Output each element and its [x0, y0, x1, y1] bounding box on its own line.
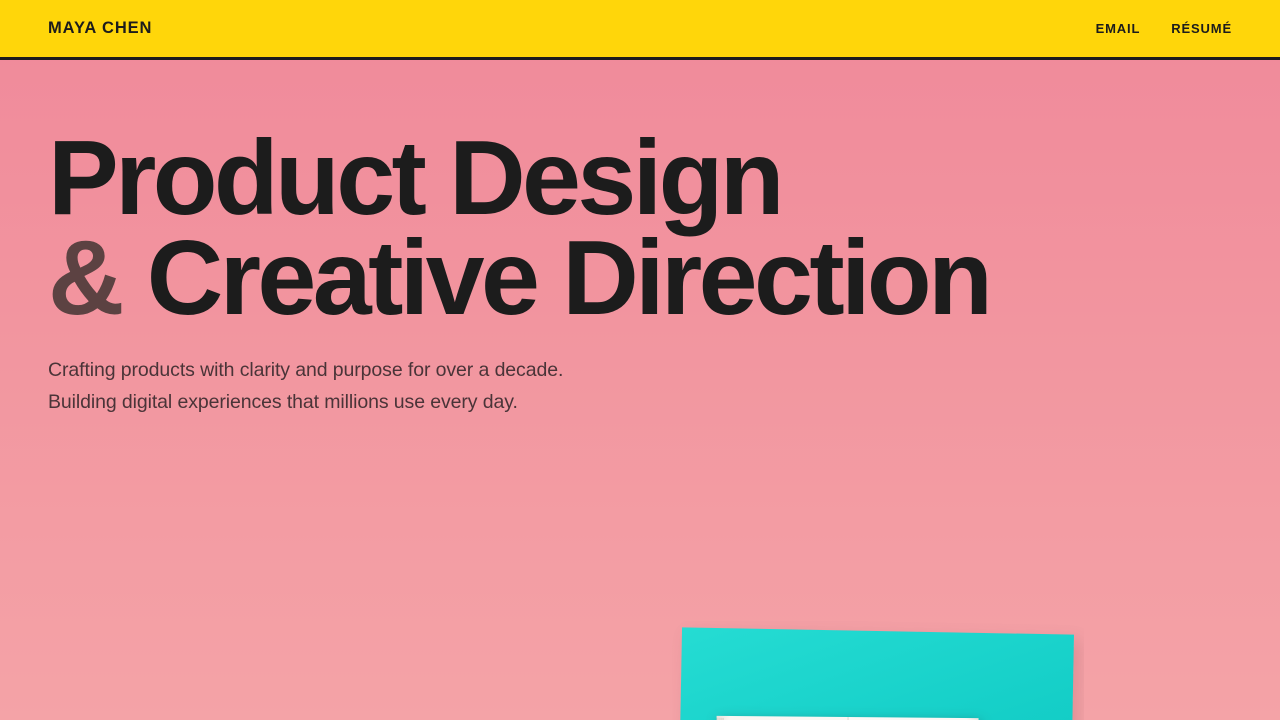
page-title: Product Design & Creative Direction [48, 129, 989, 328]
magazine-left-page: The ZIN [715, 716, 848, 720]
hero-heading-line-2-text: Creative Direction [121, 219, 989, 337]
nav-link-email[interactable]: EMAIL [1096, 21, 1141, 36]
hero-subtitle: Crafting products with clarity and purpo… [48, 355, 563, 418]
site-header: MAYA CHEN EMAIL RÉSUMÉ [0, 0, 1280, 60]
hero-ampersand: & [48, 219, 121, 337]
hero-heading-line-1: Product Design [48, 129, 989, 229]
hero-section: Product Design & Creative Direction Craf… [0, 63, 1280, 720]
nav-link-resume[interactable]: RÉSUMÉ [1171, 21, 1232, 36]
zine-photo: The ZIN [672, 621, 1084, 720]
hero-subtitle-line-2: Building digital experiences that millio… [48, 387, 563, 419]
main-nav: EMAIL RÉSUMÉ [1096, 21, 1232, 36]
hero-subtitle-line-1: Crafting products with clarity and purpo… [48, 355, 563, 387]
brand-logo[interactable]: MAYA CHEN [48, 19, 152, 38]
hero-heading-line-2: & Creative Direction [48, 229, 989, 329]
zine-teal-backdrop [678, 627, 1074, 720]
